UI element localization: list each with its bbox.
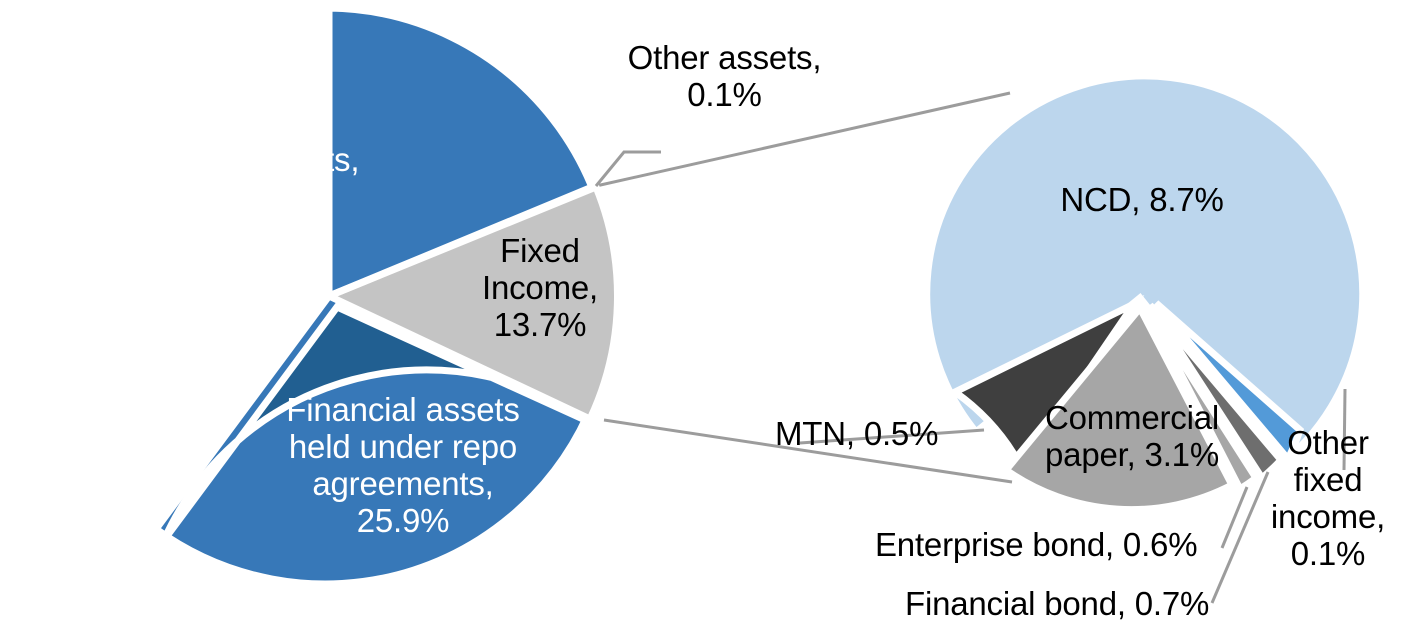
label-mtn: MTN, 0.5% [775, 416, 965, 453]
label-fixed-income: Fixed Income, 13.7% [460, 233, 620, 344]
label-bank-deposits: Bank deposits, 60.3% [120, 142, 385, 216]
label-financial-bond: Financial bond, 0.7% [905, 586, 1245, 623]
label-ncd: NCD, 8.7% [1042, 182, 1242, 219]
label-commercial-paper: Commercial paper, 3.1% [1032, 400, 1232, 474]
label-other-assets: Other assets, 0.1% [612, 40, 837, 114]
label-enterprise-bond: Enterprise bond, 0.6% [875, 527, 1235, 564]
label-other-fixed-income: Other fixed income, 0.1% [1258, 425, 1398, 573]
other-assets-leader-line [596, 152, 661, 186]
pie-chart-figure: Bank deposits, 60.3% Fixed Income, 13.7%… [0, 0, 1404, 644]
label-repo-agreements: Financial assets held under repo agreeme… [258, 392, 548, 540]
other-assets-leader [596, 152, 661, 186]
